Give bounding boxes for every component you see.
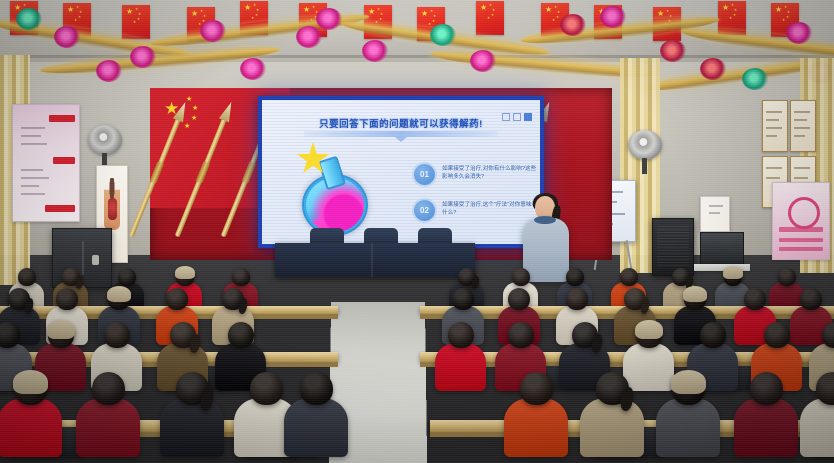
right-monitor [700, 232, 744, 266]
magic-potion-bottle-icon [288, 144, 380, 240]
audience-person-head [566, 288, 588, 310]
audience-person-head [0, 322, 20, 348]
decor-bloom [786, 22, 812, 44]
audience-knit-hat [683, 286, 707, 302]
certificate-frame-2 [790, 100, 816, 152]
audience-person-head [800, 288, 822, 310]
minimize-icon[interactable] [502, 113, 510, 121]
audience-person-head [228, 322, 254, 348]
audience-person-head [750, 372, 783, 405]
audience-person-head [700, 322, 726, 348]
slide-window-controls[interactable] [502, 113, 532, 121]
pink-wall-poster [772, 182, 830, 260]
presenter-collar [534, 216, 556, 224]
bullet-text-01: 如果接受了治疗,对你有什么影响?这些影响多久会消失? [442, 164, 540, 182]
slide-bullet-01: 01 如果接受了治疗,对你有什么影响?这些影响多久会消失? [414, 164, 540, 185]
decor-bloom [240, 58, 266, 80]
audience-knit-hat [13, 370, 48, 394]
decor-bloom [200, 20, 226, 42]
audience-person-head [452, 288, 474, 310]
audience-person-head [104, 322, 130, 348]
audience-person-head [508, 288, 530, 310]
audience-person-body [734, 398, 798, 457]
audience-knit-hat [635, 320, 663, 339]
audience-person-head [520, 372, 553, 405]
decor-bloom [700, 58, 726, 80]
slide-surface: 只要回答下面的问题就可以获得解药! 01 如果接受了治疗,对你有什么影响?这些影… [262, 100, 540, 244]
decor-bloom [362, 40, 388, 62]
audience-knit-hat [47, 320, 75, 339]
audience-person-body [504, 398, 568, 457]
small-notice-card [700, 196, 730, 232]
audience-person-head [232, 268, 250, 286]
ceiling-flag: ★★★★★ [476, 1, 504, 35]
presenter-sweater [523, 218, 569, 282]
slide-title: 只要回答下面的问题就可以获得解药! [262, 116, 540, 130]
projection-screen[interactable]: 只要回答下面的问题就可以获得解药! 01 如果接受了治疗,对你有什么影响?这些影… [258, 96, 544, 248]
audience-person-head [512, 268, 530, 286]
decor-bloom [54, 26, 80, 48]
audience-knit-hat [723, 266, 743, 279]
audience-person-body [284, 398, 348, 457]
audience-person-head [566, 268, 584, 286]
audience-person-head [166, 288, 188, 310]
decor-bloom [660, 40, 686, 62]
decorative-flag-pole [175, 113, 229, 237]
audience-person-head [18, 268, 36, 286]
decor-bloom [96, 60, 122, 82]
audience-person-head [778, 268, 796, 286]
decor-bloom [560, 14, 586, 36]
audience-person-body [160, 398, 224, 457]
front-podium-table [275, 243, 475, 277]
decor-bloom [130, 46, 156, 68]
certificate-frame-1 [762, 100, 788, 152]
audience-person-head [744, 288, 766, 310]
slide-title-underline [304, 131, 498, 137]
bullet-number-01: 01 [414, 164, 435, 185]
decor-bloom [296, 26, 322, 48]
decor-bloom [742, 68, 768, 90]
audience-person-head [508, 322, 534, 348]
audience-person-body [800, 398, 834, 457]
pa-speaker [652, 218, 694, 276]
audience-person-head [764, 322, 790, 348]
decor-bloom [16, 8, 42, 30]
decor-bloom [316, 8, 342, 30]
audience-knit-hat [107, 286, 131, 302]
maximize-icon[interactable] [513, 113, 521, 121]
right-wall-fan [628, 130, 662, 160]
wall-mounted-fan [88, 125, 122, 155]
audience-person-head [92, 372, 125, 405]
audience-person-body [580, 398, 644, 457]
close-icon[interactable] [524, 113, 532, 121]
audience-person-head [300, 372, 333, 405]
ceiling-flag: ★★★★★ [122, 5, 150, 39]
bullet-number-02: 02 [414, 200, 435, 221]
pink-information-poster [12, 104, 80, 222]
audience-person-head [250, 372, 283, 405]
decor-bloom [600, 6, 626, 28]
audience-person-body [435, 343, 486, 391]
classroom-scene: ★★★★★★★★★★★★★★★★★★★★★★★★★★★★★★★★★★★★★★★★… [0, 0, 834, 463]
audience-person-head [620, 268, 638, 286]
audience-person-body [623, 343, 674, 391]
audience-person-head [448, 322, 474, 348]
decor-bloom [470, 50, 496, 72]
audience-person-body [0, 398, 62, 457]
audience-knit-hat [175, 266, 195, 279]
audience-knit-hat [671, 370, 706, 394]
audience-person-body [76, 398, 140, 457]
audience-person-body [656, 398, 720, 457]
audience-person-head [118, 268, 136, 286]
audience-person-head [56, 288, 78, 310]
decor-bloom [430, 24, 456, 46]
